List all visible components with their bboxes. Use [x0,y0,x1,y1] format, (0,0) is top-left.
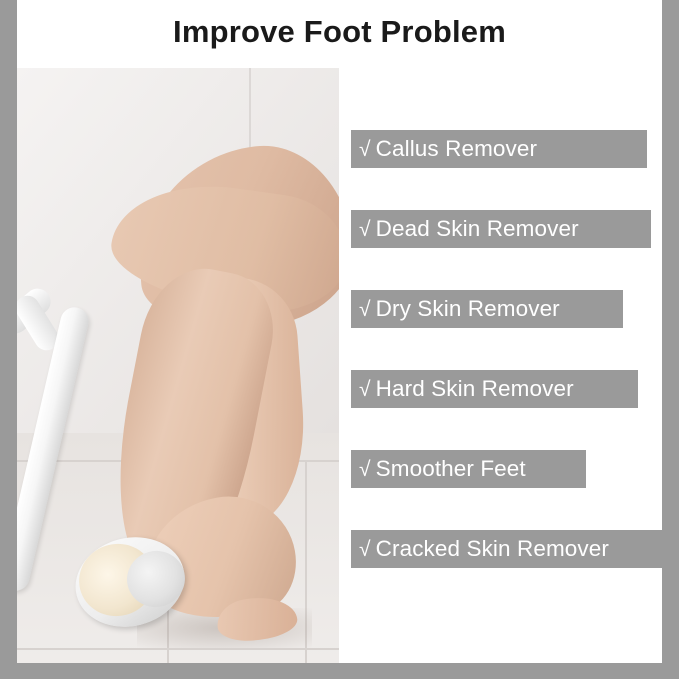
check-icon: √ [359,218,371,241]
feature-label: Smoother Feet [376,456,526,481]
check-icon: √ [359,378,371,401]
floor-grout-line-2 [17,648,339,650]
product-feature-poster: Improve Foot Problem [0,0,679,679]
check-icon: √ [359,138,371,161]
list-item: √Callus Remover [339,130,662,168]
list-item: √Dead Skin Remover [339,210,662,248]
feature-label: Callus Remover [376,136,537,161]
feature-text: √Callus Remover [339,136,537,162]
feature-text: √Dead Skin Remover [339,216,579,242]
product-photo [17,68,339,663]
poster-content: √Callus Remover √Dead Skin Remover √Dry … [17,68,662,663]
feature-list-panel: √Callus Remover √Dead Skin Remover √Dry … [339,68,662,663]
check-icon: √ [359,458,371,481]
frame-border-right [662,0,679,679]
feature-label: Cracked Skin Remover [376,536,609,561]
list-item: √Cracked Skin Remover [339,530,662,568]
feature-list: √Callus Remover √Dead Skin Remover √Dry … [339,130,662,610]
feature-text: √Cracked Skin Remover [339,536,609,562]
frame-border-bottom [0,663,679,679]
frame-border-left [0,0,17,679]
list-item: √Dry Skin Remover [339,290,662,328]
feature-label: Hard Skin Remover [376,376,574,401]
check-icon: √ [359,538,371,561]
feature-text: √Smoother Feet [339,456,526,482]
feature-label: Dry Skin Remover [376,296,560,321]
list-item: √Smoother Feet [339,450,662,488]
page-title: Improve Foot Problem [0,14,679,50]
feature-text: √Hard Skin Remover [339,376,574,402]
list-item: √Hard Skin Remover [339,370,662,408]
feature-text: √Dry Skin Remover [339,296,560,322]
check-icon: √ [359,298,371,321]
feature-label: Dead Skin Remover [376,216,579,241]
